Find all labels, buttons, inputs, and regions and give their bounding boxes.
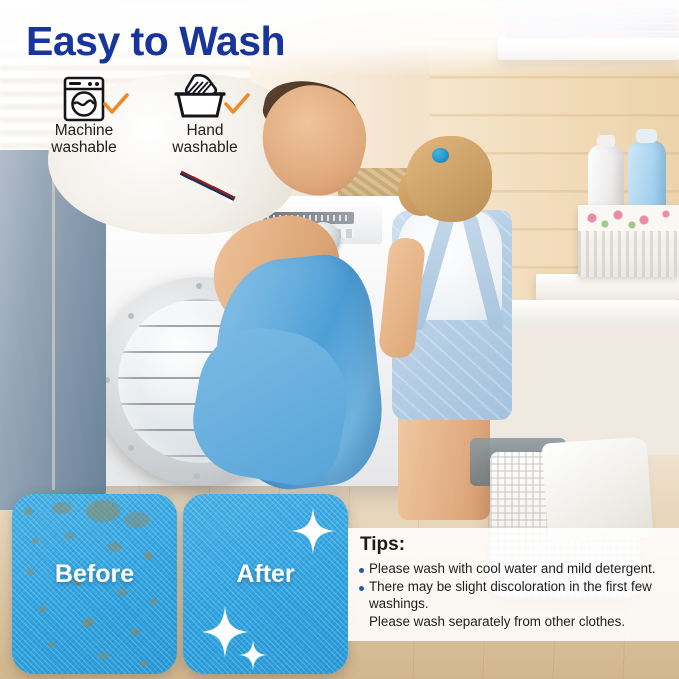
badge-hand-label: Hand washable: [146, 122, 264, 156]
bullet-icon: [359, 568, 364, 573]
bullet-icon: [359, 586, 364, 591]
check-icon: [224, 93, 250, 117]
washing-machine-icon: [28, 74, 140, 122]
feature-badges: Machine washable Hand washable: [28, 74, 288, 164]
hand-wash-icon: [146, 74, 264, 122]
after-label: After: [183, 560, 348, 589]
tip-item: Please wash with cool water and mild det…: [354, 561, 676, 578]
tip-item: washings.: [354, 596, 676, 613]
badge-hand-washable: Hand washable: [146, 74, 264, 156]
sparkle-icon: [239, 640, 267, 670]
lower-shelf: [536, 274, 679, 300]
floral-basket: [578, 205, 679, 277]
tip-item: Please wash separately from other clothe…: [354, 614, 676, 631]
badge-machine-washable: Machine washable: [28, 74, 140, 156]
tips-panel: Tips: Please wash with cool water and mi…: [348, 528, 679, 641]
after-panel: After: [183, 494, 348, 674]
before-label: Before: [12, 560, 177, 589]
tip-text: There may be slight discoloration in the…: [369, 579, 652, 596]
before-panel: Before: [12, 494, 177, 674]
sparkle-icon: [291, 508, 335, 554]
tip-text: washings.: [369, 596, 429, 613]
product-infographic: Easy to Wash Machine washable: [0, 0, 679, 679]
tip-text: Please wash with cool water and mild det…: [369, 561, 656, 578]
check-icon: [103, 93, 129, 117]
tips-title: Tips:: [360, 534, 405, 556]
tips-list: Please wash with cool water and mild det…: [354, 561, 676, 631]
tip-item: There may be slight discoloration in the…: [354, 579, 676, 596]
badge-machine-label: Machine washable: [28, 122, 140, 156]
tip-text: Please wash separately from other clothe…: [369, 614, 625, 631]
child-head: [406, 136, 492, 222]
page-title: Easy to Wash: [26, 18, 285, 65]
hair-tie-icon: [432, 148, 449, 163]
